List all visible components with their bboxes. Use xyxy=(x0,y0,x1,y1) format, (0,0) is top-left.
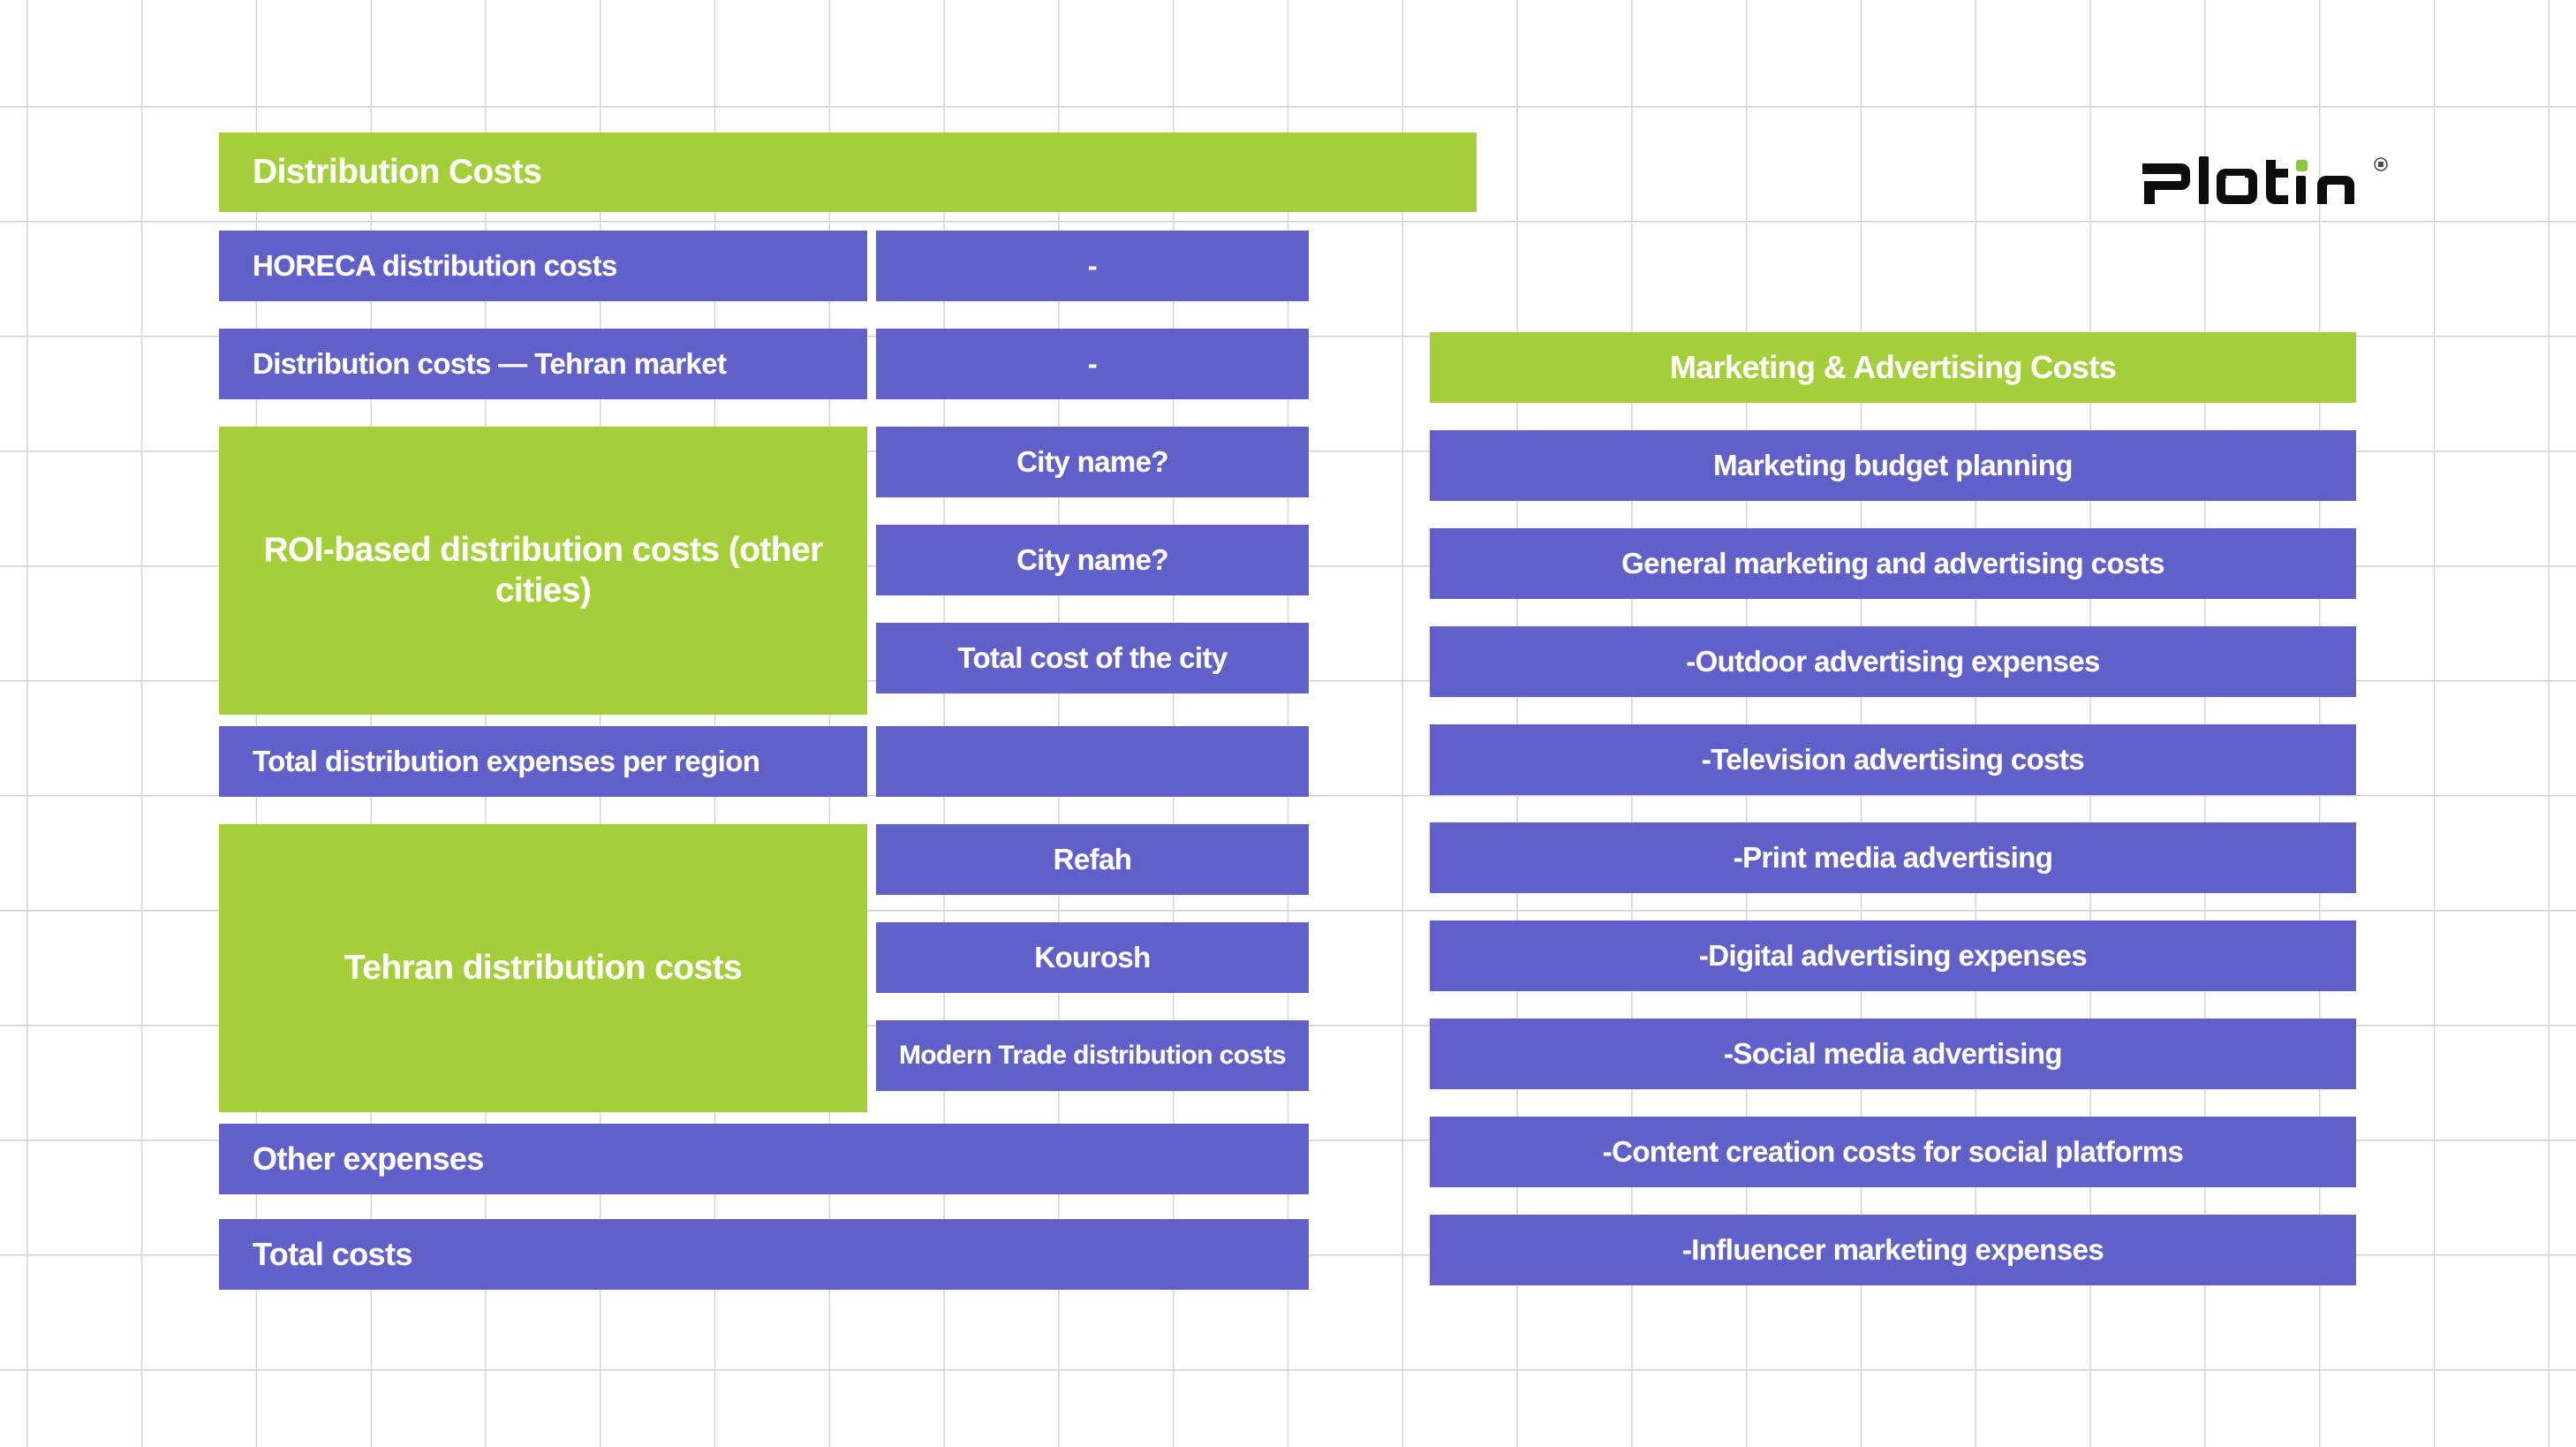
row-total-costs[interactable]: Total costs xyxy=(219,1219,1309,1290)
row-other-expenses[interactable]: Other expenses xyxy=(219,1124,1309,1194)
marketing-item-outdoor[interactable]: -Outdoor advertising expenses xyxy=(1430,626,2356,697)
row-region-total-label[interactable]: Total distribution expenses per region xyxy=(219,726,867,797)
row-region-total-value[interactable] xyxy=(876,726,1309,797)
marketing-item-budget-planning[interactable]: Marketing budget planning xyxy=(1430,430,2356,501)
row-tehran-market-value[interactable]: - xyxy=(876,329,1309,399)
marketing-item-television[interactable]: -Television advertising costs xyxy=(1430,724,2356,795)
tehran-group-label[interactable]: Tehran distribution costs xyxy=(219,824,867,1112)
tehran-item-refah[interactable]: Refah xyxy=(876,824,1309,895)
marketing-item-content-creation[interactable]: -Content creation costs for social platf… xyxy=(1430,1117,2356,1187)
left-panel-header: Distribution Costs xyxy=(219,133,1477,212)
marketing-item-social-media[interactable]: -Social media advertising xyxy=(1430,1019,2356,1089)
marketing-item-print-media[interactable]: -Print media advertising xyxy=(1430,822,2356,893)
marketing-item-general-costs[interactable]: General marketing and advertising costs xyxy=(1430,528,2356,599)
roi-group-label[interactable]: ROI-based distribution costs (other citi… xyxy=(219,427,867,715)
platin-logo xyxy=(2141,153,2397,208)
tehran-item-kourosh[interactable]: Kourosh xyxy=(876,922,1309,993)
roi-item-city-2[interactable]: City name? xyxy=(876,525,1309,595)
marketing-item-influencer[interactable]: -Influencer marketing expenses xyxy=(1430,1215,2356,1285)
row-horeca-value[interactable]: - xyxy=(876,231,1309,301)
roi-item-city-1[interactable]: City name? xyxy=(876,427,1309,497)
row-horeca-label[interactable]: HORECA distribution costs xyxy=(219,231,867,301)
marketing-item-digital[interactable]: -Digital advertising expenses xyxy=(1430,920,2356,991)
roi-item-total-cost-of-city[interactable]: Total cost of the city xyxy=(876,623,1309,693)
row-tehran-market-label[interactable]: Distribution costs — Tehran market xyxy=(219,329,867,399)
slide-canvas: Distribution Costs HORECA distribution c… xyxy=(0,0,2576,1447)
right-panel-header: Marketing & Advertising Costs xyxy=(1430,332,2356,403)
tehran-item-modern-trade[interactable]: Modern Trade distribution costs xyxy=(876,1020,1309,1091)
